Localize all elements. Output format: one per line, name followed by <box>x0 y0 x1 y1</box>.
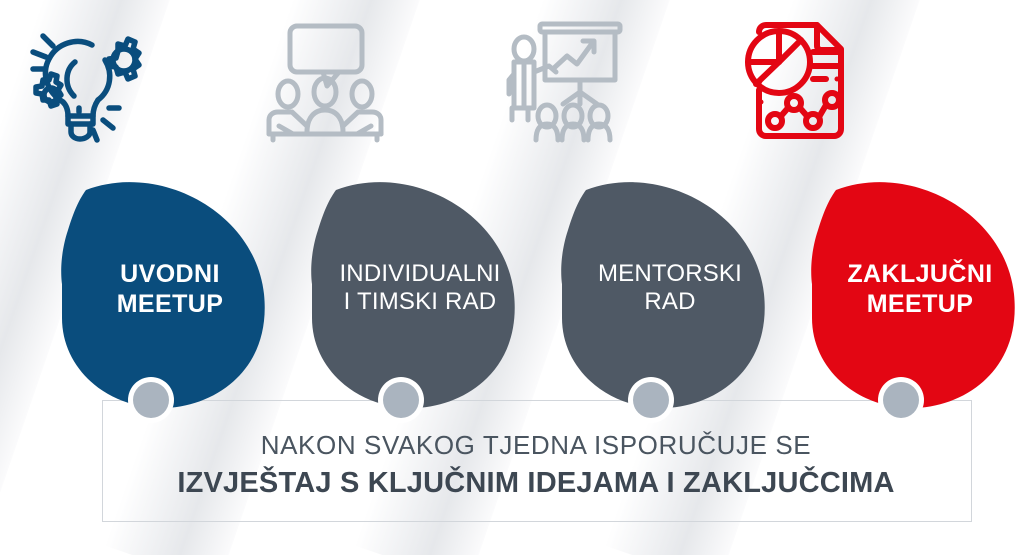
connector-dots <box>0 0 1024 555</box>
connector-dot-1 <box>128 377 174 423</box>
connector-dot-2 <box>378 377 424 423</box>
infographic-canvas: UVODNI MEETUP INDIVIDUALNI I TIMSKI RAD <box>0 0 1024 555</box>
connector-dot-3 <box>628 377 674 423</box>
connector-dot-4 <box>878 377 924 423</box>
